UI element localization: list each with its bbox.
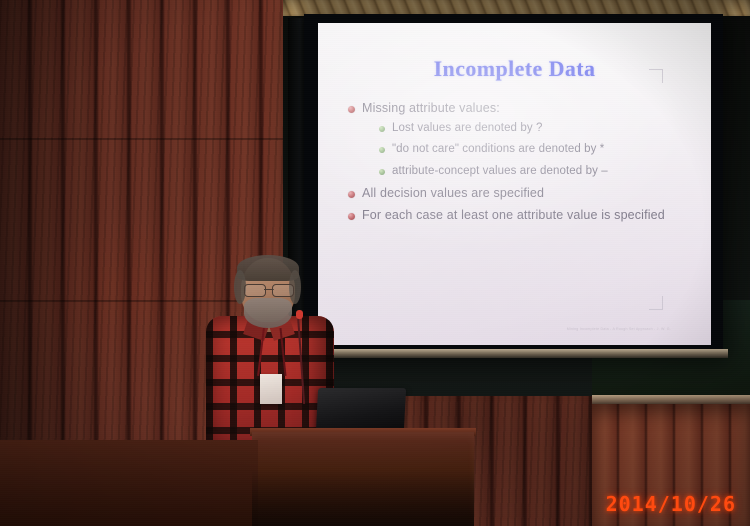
wall-seam-upper: [0, 138, 292, 140]
list-item: For each case at least one attribute val…: [348, 209, 695, 223]
beard: [244, 298, 292, 328]
lens-right: [272, 284, 294, 297]
list-item: Lost values are denoted by ?: [379, 122, 695, 135]
microphone-icon: [296, 310, 303, 319]
bullet-green-icon: [379, 169, 385, 175]
eyeglasses-icon: [244, 284, 294, 295]
lens-left: [244, 284, 266, 297]
list-item: "do not care" conditions are denoted by …: [379, 143, 695, 156]
screen-bottom-bar: [300, 349, 728, 358]
bullet-red-icon: [348, 213, 355, 220]
podium-shadow: [252, 470, 474, 526]
camera-datestamp: 2014/10/26: [606, 492, 736, 516]
name-badge: [260, 374, 282, 404]
laptop-screen: [316, 388, 406, 432]
chalk-rail: [592, 395, 750, 404]
slide-crop-mark-bottom-right: [649, 296, 663, 310]
bullet-green-icon: [379, 147, 385, 153]
podium-left-body: [0, 440, 258, 526]
list-item: All decision values are specified: [348, 187, 695, 201]
slide-crop-mark-top-right: [649, 69, 663, 83]
bullet-red-icon: [348, 106, 355, 113]
slide-bullet-list: Missing attribute values: Lost values ar…: [348, 102, 695, 229]
lecture-hall-photo: Incomplete Data Missing attribute values…: [0, 0, 750, 526]
bullet-red-icon: [348, 191, 355, 198]
bullet-text: All decision values are specified: [362, 187, 544, 201]
bullet-green-icon: [379, 126, 385, 132]
list-item: attribute-concept values are denoted by …: [379, 165, 695, 178]
bullet-text: For each case at least one attribute val…: [362, 209, 665, 223]
bullet-text: Lost values are denoted by ?: [392, 122, 543, 135]
projection-screen: Incomplete Data Missing attribute values…: [318, 23, 711, 345]
bullet-text: attribute-concept values are denoted by …: [392, 165, 608, 178]
slide-footer: Mining Incomplete Data - A Rough Set App…: [567, 327, 671, 331]
list-item: Missing attribute values:: [348, 102, 695, 116]
bullet-text: Missing attribute values:: [362, 102, 500, 116]
bullet-text: "do not care" conditions are denoted by …: [392, 143, 604, 156]
